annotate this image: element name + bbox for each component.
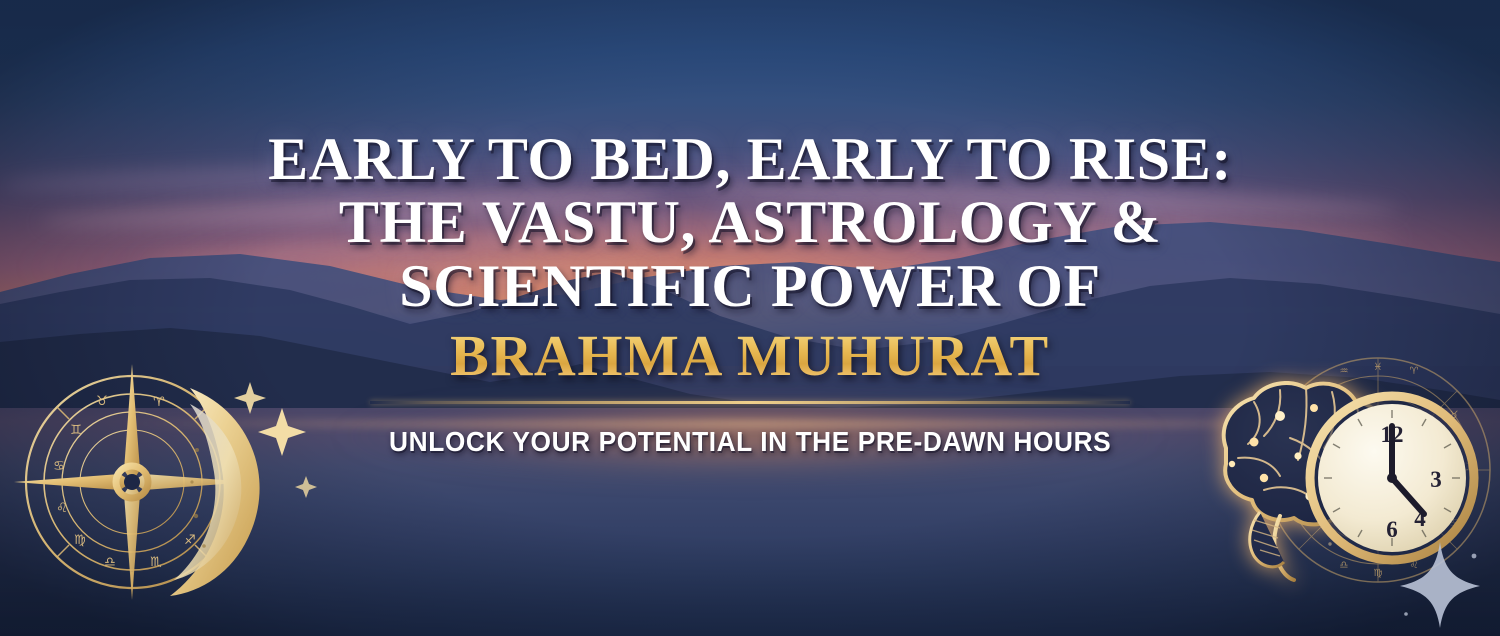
gold-title: BRAHMA MUHURAT xyxy=(450,326,1050,387)
brahma-muhurat-banner: EARLY TO BED, EARLY TO RISE: THE VASTU, … xyxy=(0,0,1500,636)
page-title: EARLY TO BED, EARLY TO RISE: THE VASTU, … xyxy=(268,128,1232,318)
gold-divider xyxy=(370,401,1130,404)
banner-content: EARLY TO BED, EARLY TO RISE: THE VASTU, … xyxy=(0,0,1500,636)
subtitle: UNLOCK YOUR POTENTIAL IN THE PRE-DAWN HO… xyxy=(389,426,1111,458)
headline-line-3: SCIENTIFIC POWER OF xyxy=(268,255,1232,318)
headline-line-1: EARLY TO BED, EARLY TO RISE: xyxy=(268,128,1232,191)
headline-line-2: THE VASTU, ASTROLOGY & xyxy=(268,191,1232,254)
